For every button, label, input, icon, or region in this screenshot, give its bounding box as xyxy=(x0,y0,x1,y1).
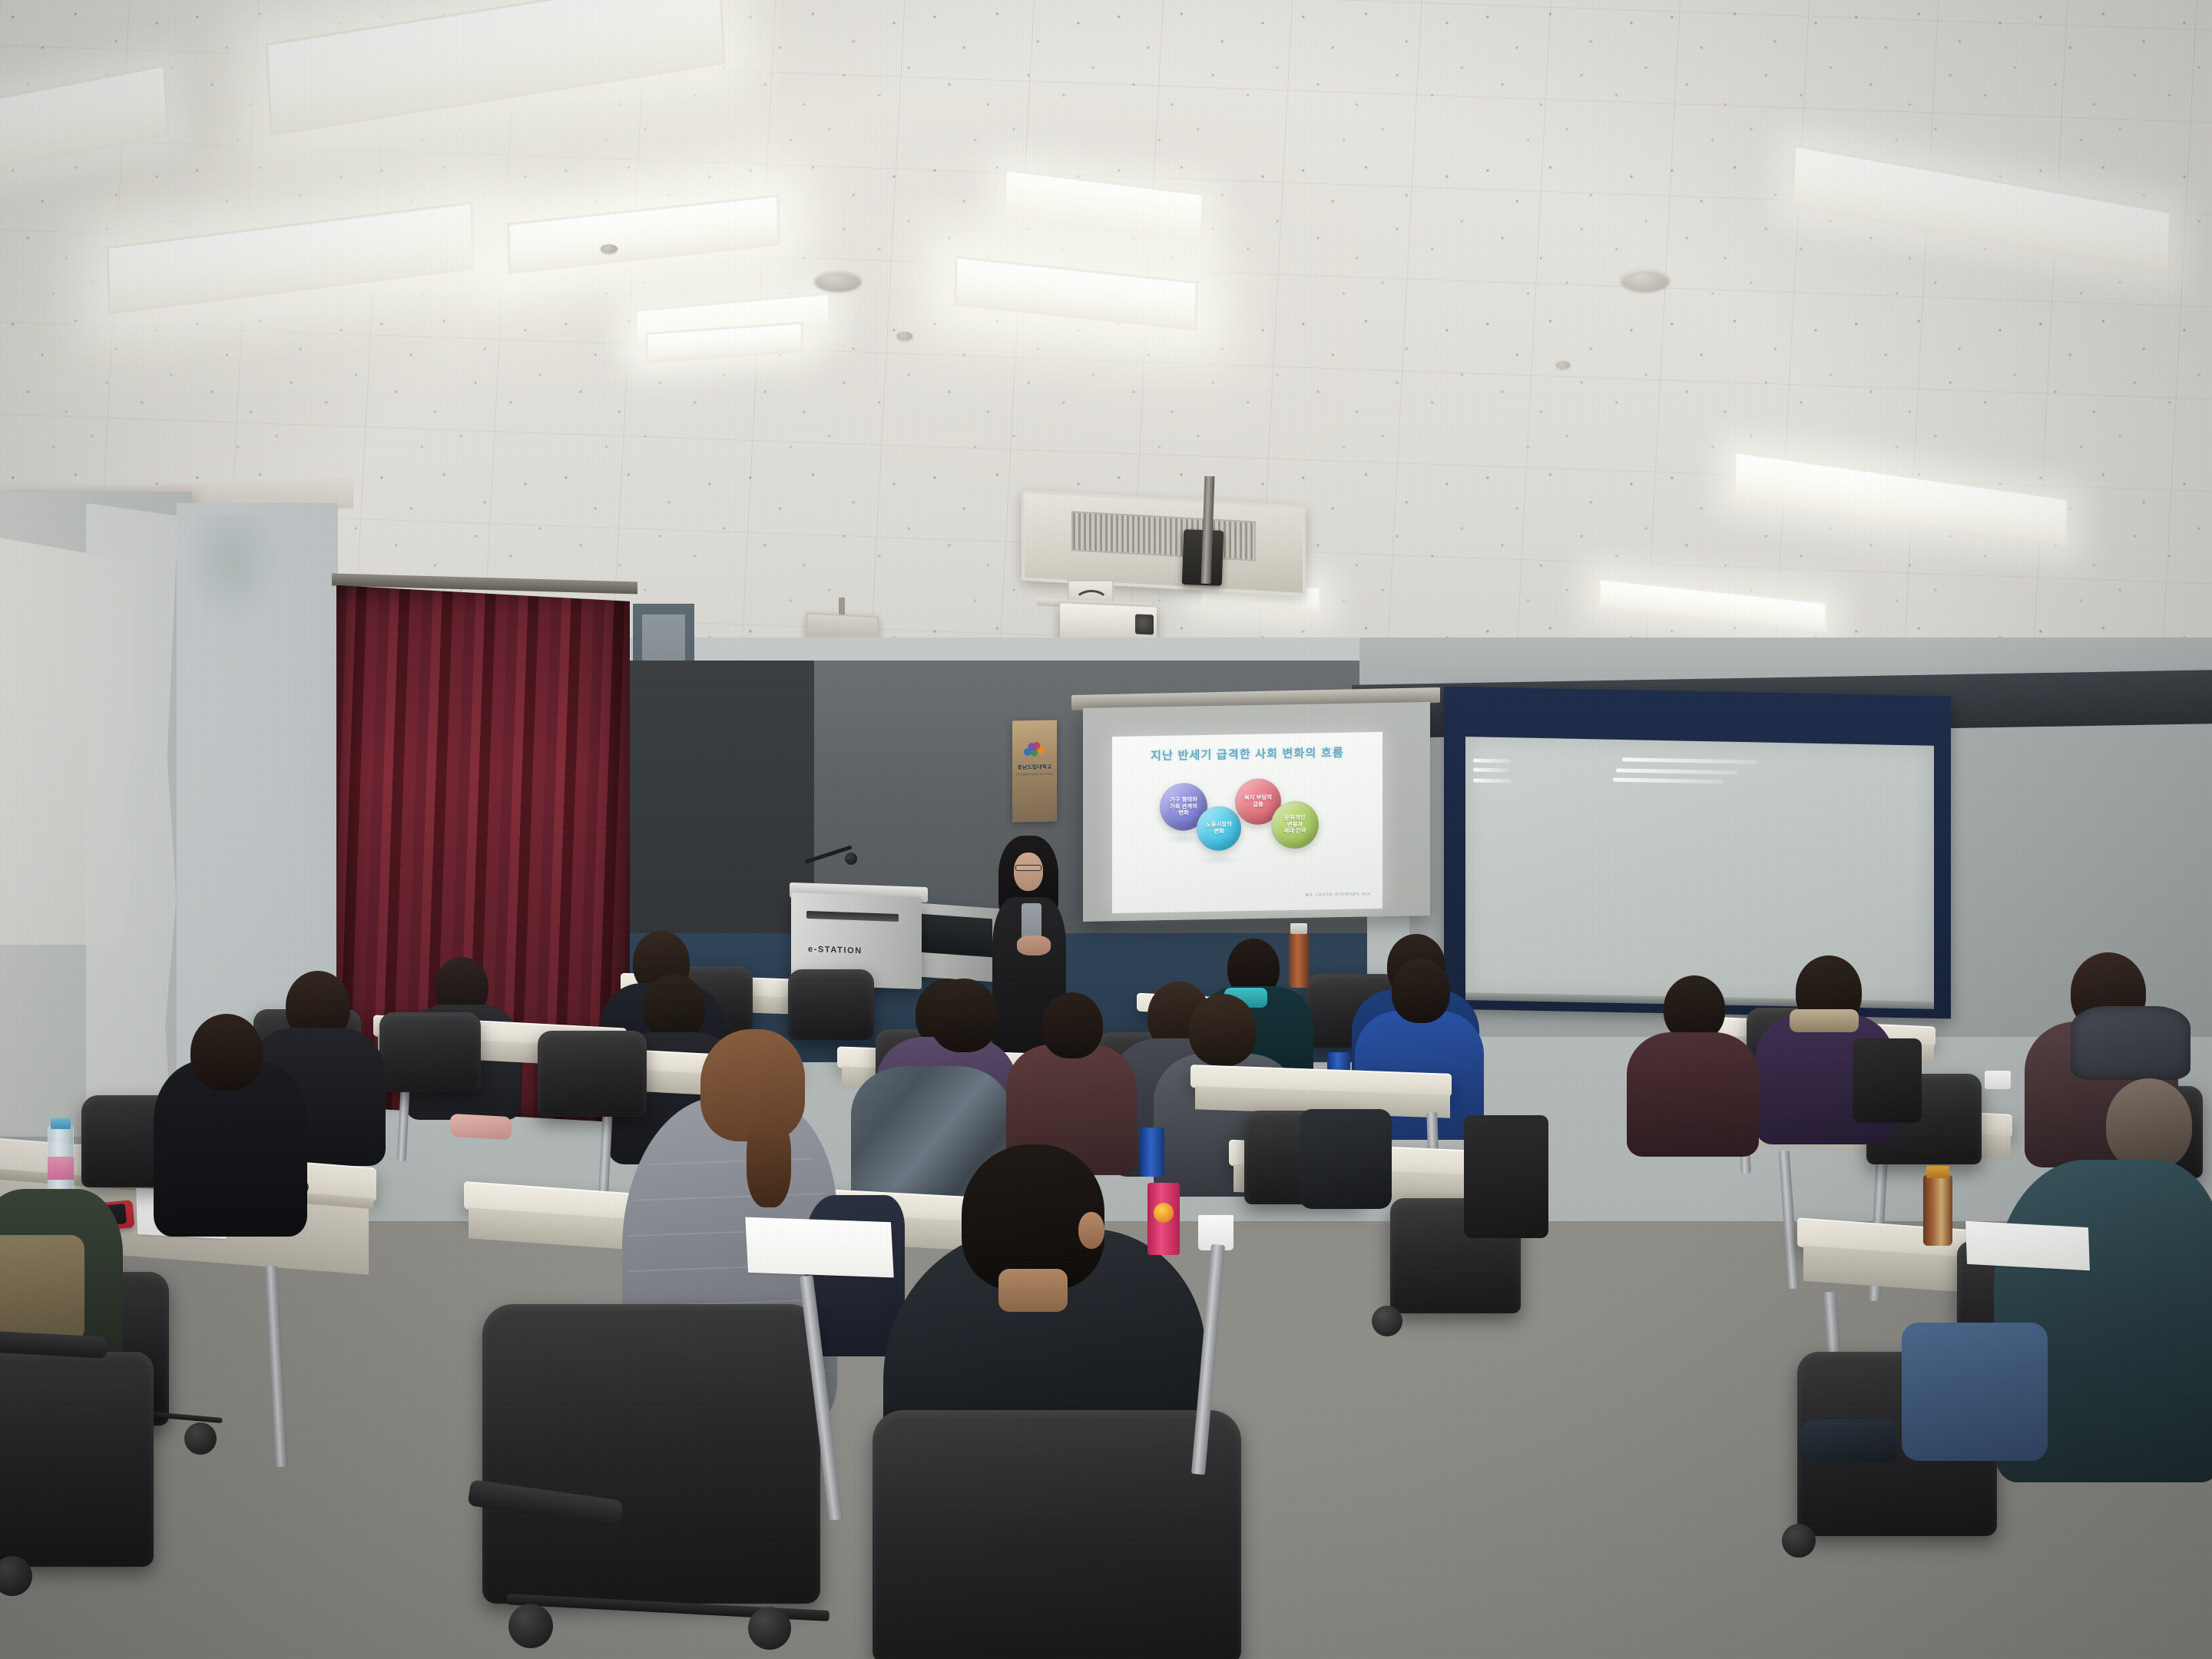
coffee-bottle-right xyxy=(1923,1175,1952,1246)
handout-right xyxy=(1965,1221,2090,1271)
chair-center-right-caster xyxy=(1372,1306,1402,1336)
poster-university-name: 충남도립대학교 xyxy=(1012,763,1057,771)
slide-source-note: 출처: 노동연구원, 국가인권위원회, 2016 xyxy=(1306,892,1370,897)
ceiling-air-diffuser-1 xyxy=(814,270,862,292)
person-blue-down-head xyxy=(1392,959,1450,1023)
left-wall-stain xyxy=(184,515,284,630)
whiteboard-glint-1 xyxy=(1473,759,1510,763)
person-grey-coat-head xyxy=(1189,994,1257,1066)
person-grey-vest-ponytail xyxy=(747,1115,791,1207)
person-right-c-head xyxy=(2106,1078,2192,1171)
chair-left-mid-2 xyxy=(379,1012,481,1092)
chair-foreground-right xyxy=(873,1410,1241,1659)
poster-university-subtitle: Chungnam State University xyxy=(1012,772,1057,776)
desk-front-left-leg-2 xyxy=(265,1266,288,1467)
pink-can-logo-icon xyxy=(1154,1203,1174,1223)
person-right-a-scarf xyxy=(1790,1009,1859,1032)
presenter-face xyxy=(1014,853,1043,891)
chair-front-left-caster-2 xyxy=(184,1422,217,1455)
slide-bubble-culture: 문화적인 변동과 세대 간극 xyxy=(1271,800,1319,849)
bag-floor-center xyxy=(1300,1109,1392,1209)
presenter-hands xyxy=(1017,935,1051,955)
backpack-center-right xyxy=(1464,1115,1548,1238)
presenter-glasses-icon xyxy=(1015,865,1041,871)
coffee-bottle-podium-cap xyxy=(1290,923,1307,934)
coffee-bottle-right-cap xyxy=(1926,1166,1949,1178)
chair-foreground-caster-1 xyxy=(508,1604,553,1648)
ceiling-sprinkler-1 xyxy=(601,244,618,253)
coffee-bottle-podium xyxy=(1289,931,1309,988)
slide-title: 지난 반세기 급격한 사회 변화의 흐름 xyxy=(1112,743,1382,764)
water-bottle-label xyxy=(48,1157,74,1180)
slide-bubble-labor: 노동시장의 변화 xyxy=(1197,806,1241,851)
chair-foreground-center xyxy=(482,1304,820,1604)
chair-foreground-caster-2 xyxy=(748,1607,791,1650)
chair-center-row2-1 xyxy=(538,1031,647,1117)
whiteboard-glint-3 xyxy=(1473,779,1512,783)
microphone-head-icon xyxy=(845,853,857,865)
university-poster: 충남도립대학교 Chungnam State University xyxy=(1012,720,1057,822)
university-logo-icon xyxy=(1023,739,1046,758)
ceiling-sprinkler-2 xyxy=(897,332,912,340)
person-front-center-ear xyxy=(1078,1212,1104,1249)
person-right-a-bag xyxy=(1853,1038,1922,1123)
projector-lens-icon xyxy=(1135,614,1154,634)
ceiling-sprinkler-3 xyxy=(1556,361,1570,369)
lecture-hall-photo: 충남도립대학교 Chungnam State University 지난 반세기… xyxy=(0,0,2212,1659)
person-right-c-jeans xyxy=(1902,1323,2048,1461)
handout-center-front xyxy=(745,1217,894,1278)
pencil-case-left xyxy=(450,1114,512,1140)
chair-farleft-extra xyxy=(0,1352,154,1567)
whiteboard-glint-2 xyxy=(1473,768,1508,773)
whiteboard xyxy=(1465,737,1934,1007)
chair-right-caster-2 xyxy=(1782,1524,1816,1558)
person-left-b-head xyxy=(644,974,705,1041)
person-maroon-head xyxy=(1041,992,1103,1058)
person-farleft-a-bag xyxy=(0,1235,84,1343)
chair-far-2 xyxy=(788,969,874,1040)
person-left-foreground-head xyxy=(190,1014,263,1091)
person-right-b-quilted-hood xyxy=(2071,1006,2190,1080)
blue-can-2 xyxy=(1140,1128,1164,1177)
water-bottle-cap xyxy=(51,1118,71,1129)
ceiling-air-diffuser-2 xyxy=(1621,269,1670,292)
person-right-d-body xyxy=(1627,1032,1759,1157)
bubble-shadow-2 xyxy=(1198,854,1240,866)
person-camo-head-top xyxy=(929,979,998,1052)
paper-cup-right xyxy=(1985,1071,2011,1089)
person-right-c-shoe xyxy=(1797,1419,1897,1462)
front-wall-dark-panel xyxy=(630,661,814,945)
person-front-center-neck xyxy=(998,1269,1068,1312)
column-secondary-face xyxy=(86,503,178,1141)
presentation-slide: 지난 반세기 급격한 사회 변화의 흐름 가구 형태와 가족 관계의 변화 노동… xyxy=(1112,732,1382,913)
